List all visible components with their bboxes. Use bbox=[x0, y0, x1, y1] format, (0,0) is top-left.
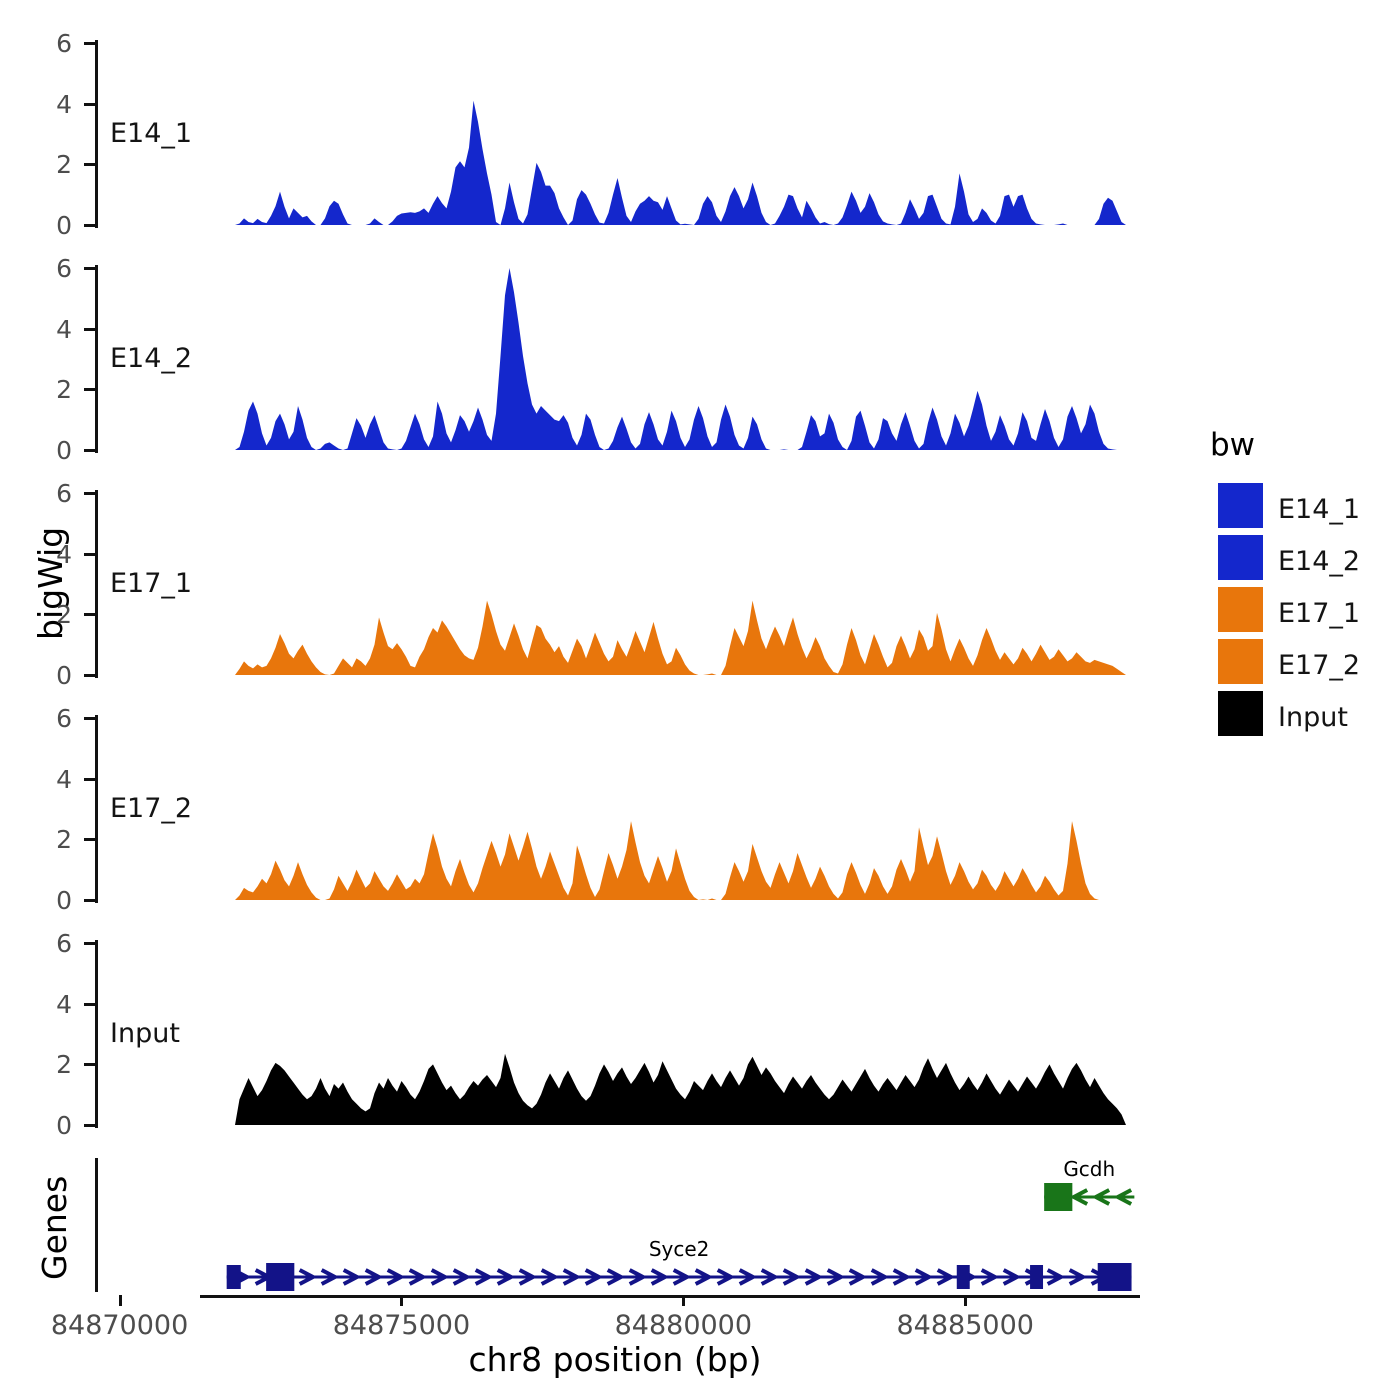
legend-key-e14_1 bbox=[1218, 483, 1263, 528]
legend-key-e14_2 bbox=[1218, 535, 1263, 580]
x-tick-mark bbox=[682, 1295, 685, 1306]
legend: bw E14_1E14_2E17_1E17_2Input bbox=[1210, 430, 1400, 700]
legend-key-input bbox=[1218, 691, 1263, 736]
genome-browser-figure: bigWig Genes 0246E14_10246E14_20246E17_1… bbox=[0, 0, 1400, 1400]
x-tick-label: 84870000 bbox=[0, 1312, 240, 1339]
x-tick-label: 84875000 bbox=[281, 1312, 521, 1339]
legend-label-input: Input bbox=[1278, 704, 1348, 731]
legend-key-e17_2 bbox=[1218, 639, 1263, 684]
x-axis-line bbox=[200, 1295, 1140, 1298]
legend-items: E14_1E14_2E17_1E17_2Input bbox=[1210, 430, 1400, 700]
legend-label-e17_1: E17_1 bbox=[1278, 600, 1360, 627]
x-axis-title: chr8 position (bp) bbox=[100, 1343, 1130, 1376]
x-tick-mark bbox=[400, 1295, 403, 1306]
x-tick-label: 84880000 bbox=[563, 1312, 803, 1339]
legend-label-e14_1: E14_1 bbox=[1278, 496, 1360, 523]
x-tick-mark bbox=[119, 1295, 122, 1306]
x-tick-mark bbox=[964, 1295, 967, 1306]
x-axis: 84870000848750008488000084885000 bbox=[0, 0, 1400, 1400]
x-tick-label: 84885000 bbox=[845, 1312, 1085, 1339]
legend-label-e17_2: E17_2 bbox=[1278, 652, 1360, 679]
legend-label-e14_2: E14_2 bbox=[1278, 548, 1360, 575]
legend-key-e17_1 bbox=[1218, 587, 1263, 632]
